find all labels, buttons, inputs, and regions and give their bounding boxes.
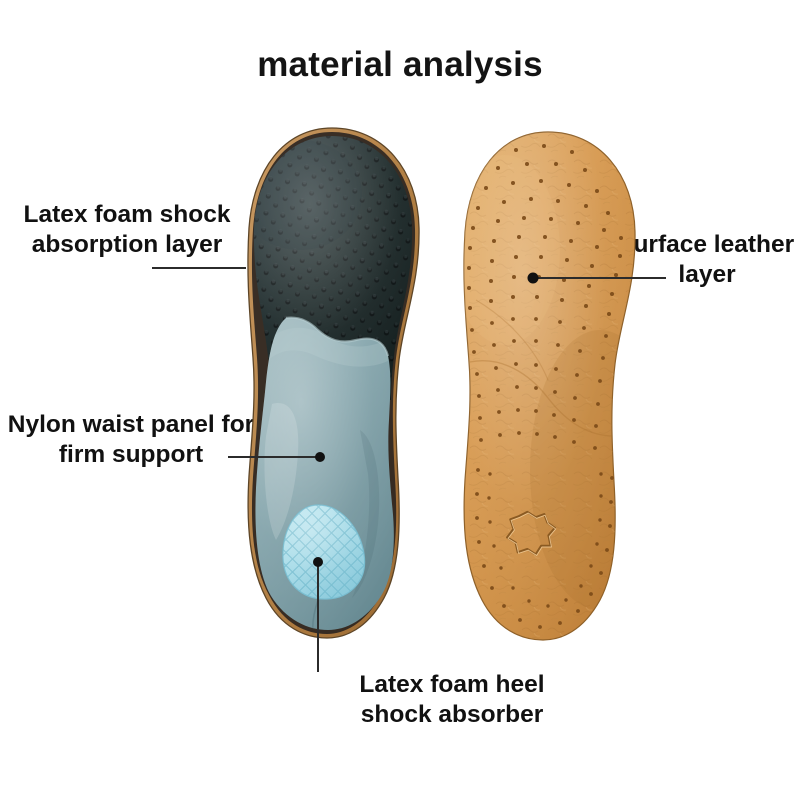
leader-dot-surface-leather <box>528 273 539 284</box>
right-insole-leather-view <box>450 126 670 646</box>
leader-dot-nylon-panel <box>315 452 325 462</box>
leader-dot-heel-pad <box>313 557 323 567</box>
left-insole-top-view <box>238 120 440 640</box>
insole-illustration <box>0 0 800 800</box>
